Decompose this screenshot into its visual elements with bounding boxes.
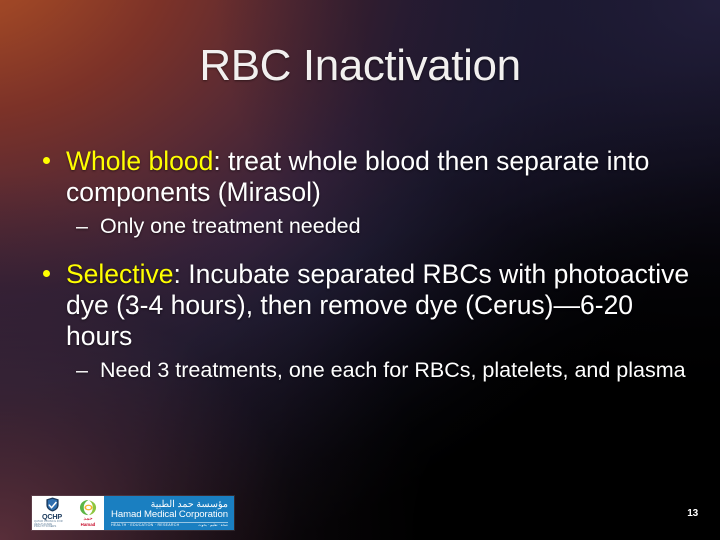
slide-body: Whole blood: treat whole blood then sepa… xyxy=(36,146,692,392)
logo-english-name: Hamad Medical Corporation xyxy=(111,510,228,521)
organization-logo: QCHP QATAR COUNCIL FOR HEALTHCARE PRACTI… xyxy=(32,496,234,530)
slide: RBC Inactivation Whole blood: treat whol… xyxy=(0,0,720,540)
sub-bullet-item: – Need 3 treatments, one each for RBCs, … xyxy=(36,358,692,384)
bullet-item: Selective: Incubate separated RBCs with … xyxy=(36,259,692,352)
sub-bullet-text: Only one treatment needed xyxy=(100,214,361,238)
bullet-item: Whole blood: treat whole blood then sepa… xyxy=(36,146,692,208)
slide-title: RBC Inactivation xyxy=(0,41,720,90)
qchp-subtitle: QATAR COUNCIL FOR HEALTHCARE PRACTITIONE… xyxy=(34,521,70,529)
hamad-english-mark: Hamad xyxy=(81,523,96,527)
bullet-dot-icon xyxy=(43,270,50,277)
logo-tagline-english: HEALTH · EDUCATION · RESEARCH xyxy=(111,524,179,528)
spacer xyxy=(36,248,692,259)
sub-bullet-text: Need 3 treatments, one each for RBCs, pl… xyxy=(100,358,686,382)
bullet-lead-label: Whole blood xyxy=(66,146,213,176)
dash-marker-icon: – xyxy=(76,214,88,240)
hamad-mark: حمد Hamad xyxy=(72,496,104,530)
shield-icon xyxy=(45,497,60,512)
sub-bullet-item: – Only one treatment needed xyxy=(36,214,692,240)
logo-name-panel: مؤسسة حمد الطبية Hamad Medical Corporati… xyxy=(104,496,234,530)
logo-tagline-arabic: صحة · تعليم · بحوث xyxy=(198,524,228,528)
bullet-dot-icon xyxy=(43,157,50,164)
qchp-logo: QCHP QATAR COUNCIL FOR HEALTHCARE PRACTI… xyxy=(32,496,72,530)
bullet-lead-label: Selective xyxy=(66,259,174,289)
leaf-crescent-icon xyxy=(79,499,98,517)
dash-marker-icon: – xyxy=(76,358,88,384)
slide-number: 13 xyxy=(687,508,698,519)
logo-tagline: HEALTH · EDUCATION · RESEARCH صحة · تعلي… xyxy=(111,522,228,528)
